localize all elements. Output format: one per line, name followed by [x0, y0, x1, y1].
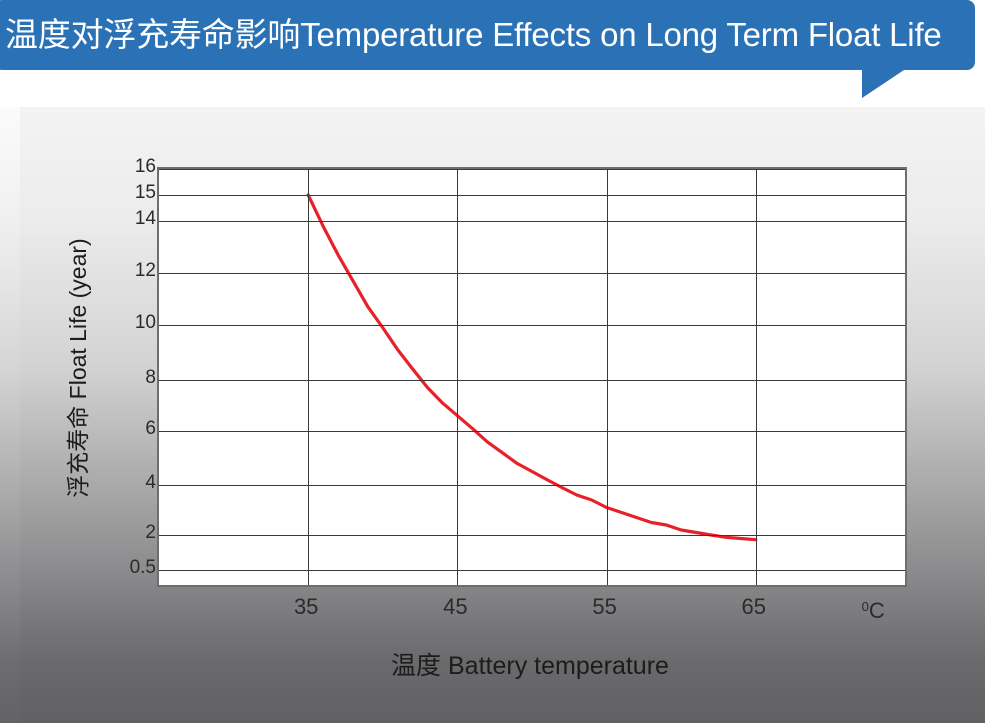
- x-tick-label: 65: [714, 596, 794, 618]
- x-axis-unit-label: 0C: [833, 596, 913, 622]
- float-life-curve-path: [308, 195, 756, 540]
- gridline-horizontal: [159, 221, 905, 222]
- panel-gradient-bleed: [0, 107, 20, 723]
- float-life-curve: [159, 169, 905, 585]
- gridline-vertical: [607, 169, 608, 585]
- gridline-horizontal: [159, 431, 905, 432]
- x-tick-label: 55: [565, 596, 645, 618]
- gridline-horizontal: [159, 273, 905, 274]
- x-axis-title: 温度 Battery temperature: [20, 652, 985, 680]
- chart-panel: 浮充寿命 Float Life (year) 161514121086420.5…: [20, 107, 985, 723]
- gridline-horizontal: [159, 169, 905, 170]
- gridline-horizontal: [159, 380, 905, 381]
- gridline-horizontal: [159, 570, 905, 571]
- banner-tail-icon: [862, 66, 910, 98]
- gridline-horizontal: [159, 535, 905, 536]
- gridline-horizontal: [159, 325, 905, 326]
- gridline-horizontal: [159, 485, 905, 486]
- gridline-horizontal: [159, 195, 905, 196]
- gridline-vertical: [308, 169, 309, 585]
- degree-superscript: 0: [862, 599, 869, 614]
- page-title: 温度对浮充寿命影响Temperature Effects on Long Ter…: [5, 0, 942, 70]
- gridline-vertical: [756, 169, 757, 585]
- gridline-vertical: [457, 169, 458, 585]
- x-tick-label: 45: [415, 596, 495, 618]
- plot-area: [157, 167, 907, 587]
- x-tick-label: 35: [266, 596, 346, 618]
- header-banner: 温度对浮充寿命影响Temperature Effects on Long Ter…: [0, 0, 985, 104]
